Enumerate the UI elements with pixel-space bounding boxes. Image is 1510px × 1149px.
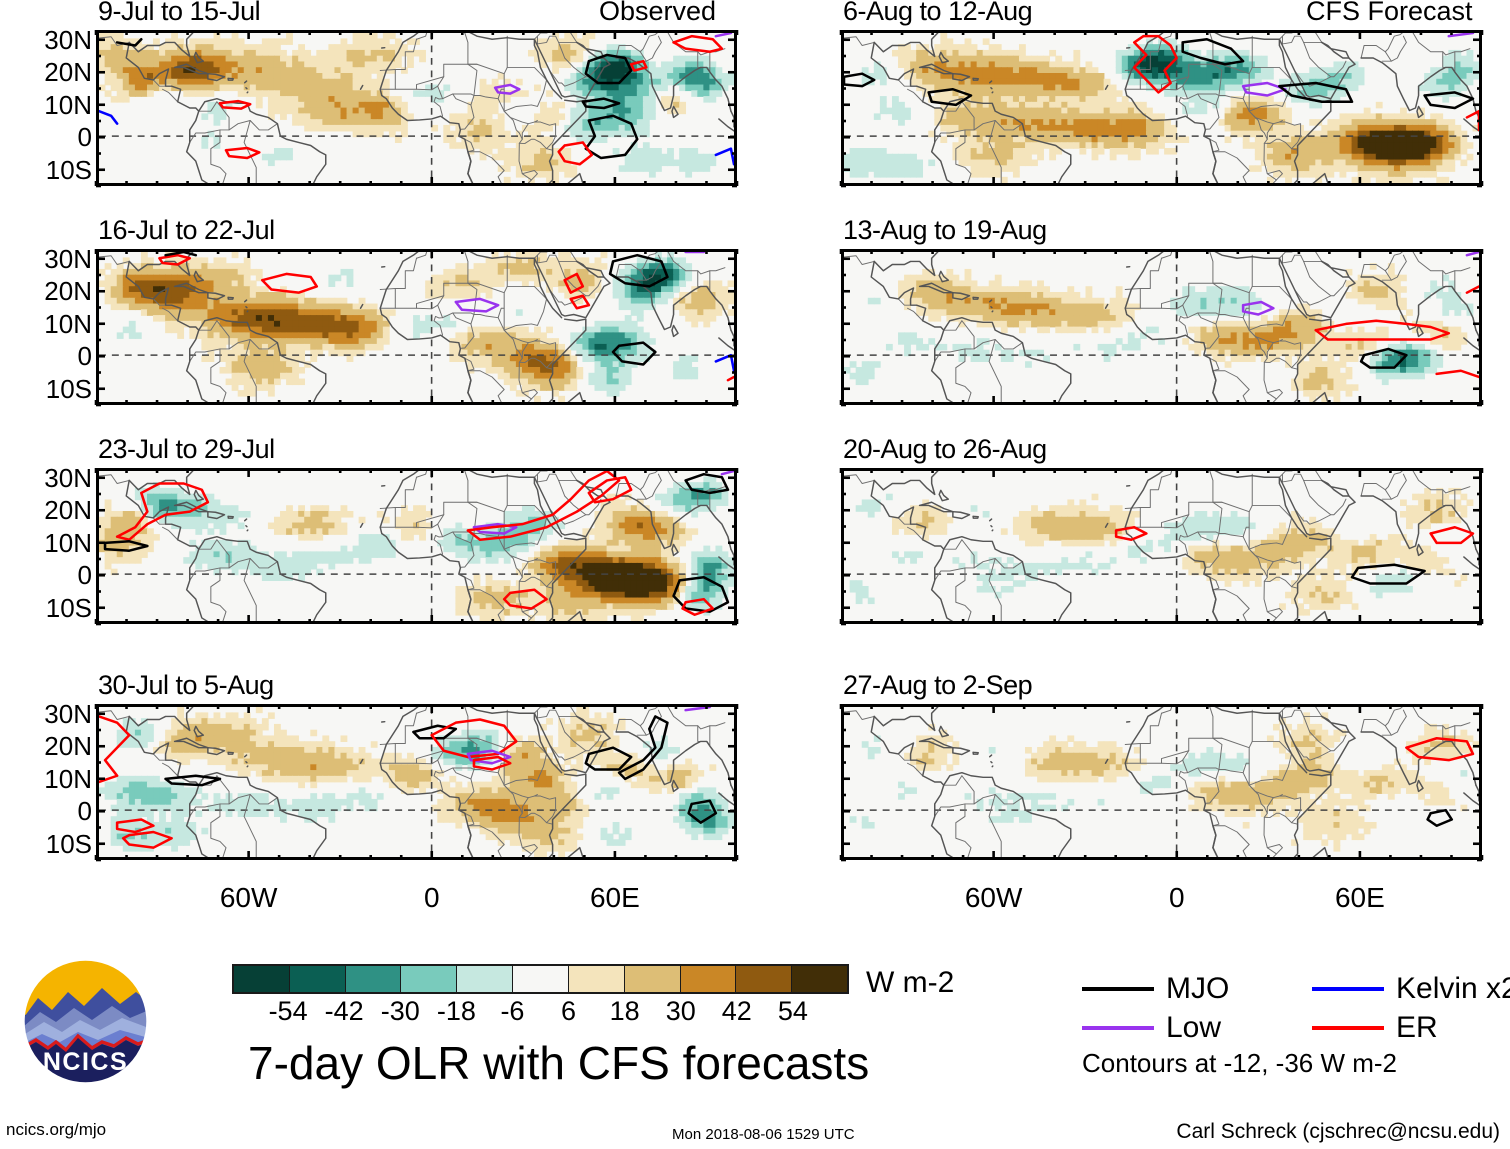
colorbar-bin-6 (569, 966, 625, 992)
colorbar: -54-42-30-18-6618304254 (232, 964, 849, 1028)
colorbar-bin-9 (736, 966, 792, 992)
y-tick-label: 10S (46, 831, 92, 857)
colorbar-bin-2 (346, 966, 402, 992)
legend-line-er (1312, 1026, 1384, 1030)
legend-label-er: ER (1396, 1011, 1438, 1045)
colorbar-bin-7 (625, 966, 681, 992)
y-tick-label: 20N (44, 278, 92, 304)
legend-label-low: Low (1166, 1011, 1221, 1045)
map-obs-2 (96, 249, 737, 405)
legend-label-kelvin: Kelvin x2 (1396, 972, 1510, 1006)
colorbar-bin-8 (681, 966, 737, 992)
x-tick-label: 0 (424, 882, 440, 914)
panel-title-obs-1: 9-Jul to 15-Jul (98, 0, 260, 27)
map-fcst-1 (841, 30, 1482, 186)
colorbar-bin-10 (792, 966, 847, 992)
x-tick-label: 60W (220, 882, 278, 914)
y-tick-label: 10N (44, 766, 92, 792)
map-obs-4 (96, 704, 737, 860)
ncics-logo: NCICS (22, 958, 149, 1085)
colorbar-tick-9: 54 (778, 996, 808, 1027)
colorbar-units-label: W m-2 (866, 966, 954, 1000)
x-tick-label: 60E (1335, 882, 1385, 914)
author-credit: Carl Schreck (cjschrec@ncsu.edu) (1176, 1120, 1500, 1144)
column-header-observed: Observed (599, 0, 716, 27)
panel-title-fcst-4: 27-Aug to 2-Sep (843, 670, 1032, 701)
colorbar-tick-2: -30 (381, 996, 420, 1027)
y-tick-label: 10S (46, 157, 92, 183)
y-tick-label: 0 (78, 562, 92, 588)
legend-entry-er: ER (1312, 1011, 1438, 1045)
y-tick-label: 10N (44, 530, 92, 556)
contour-legend: MJO Kelvin x2 Low ER (1082, 972, 1502, 1050)
y-tick-label: 10S (46, 595, 92, 621)
y-axis-labels-row-2: 30N20N10N010S (4, 468, 92, 624)
y-axis-labels-row-0: 30N20N10N010S (4, 30, 92, 186)
colorbar-tick-labels: -54-42-30-18-6618304254 (232, 994, 849, 1028)
figure-title: 7-day OLR with CFS forecasts (248, 1036, 869, 1090)
panel-title-fcst-3: 20-Aug to 26-Aug (843, 434, 1047, 465)
legend-entry-mjo: MJO (1082, 972, 1229, 1006)
y-tick-label: 30N (44, 465, 92, 491)
legend-line-kelvin (1312, 987, 1384, 991)
colorbar-bin-4 (457, 966, 513, 992)
map-fcst-2 (841, 249, 1482, 405)
y-tick-label: 30N (44, 246, 92, 272)
contour-levels-note: Contours at -12, -36 W m-2 (1082, 1048, 1397, 1079)
panel-title-obs-2: 16-Jul to 22-Jul (98, 215, 275, 246)
colorbar-tick-1: -42 (325, 996, 364, 1027)
map-fcst-4 (841, 704, 1482, 860)
colorbar-tick-7: 30 (666, 996, 696, 1027)
map-obs-1 (96, 30, 737, 186)
logo-url-text: ncics.org/mjo (6, 1120, 106, 1140)
colorbar-bin-1 (290, 966, 346, 992)
y-tick-label: 20N (44, 733, 92, 759)
x-tick-label: 60E (590, 882, 640, 914)
colorbar-tick-4: -6 (500, 996, 524, 1027)
y-tick-label: 20N (44, 497, 92, 523)
y-axis-labels-row-1: 30N20N10N010S (4, 249, 92, 405)
legend-line-low (1082, 1026, 1154, 1030)
y-tick-label: 30N (44, 27, 92, 53)
legend-row-1: MJO Kelvin x2 (1082, 972, 1502, 1011)
y-tick-label: 20N (44, 59, 92, 85)
map-fcst-3 (841, 468, 1482, 624)
legend-entry-kelvin: Kelvin x2 (1312, 972, 1510, 1006)
legend-line-mjo (1082, 987, 1154, 991)
panel-title-fcst-1: 6-Aug to 12-Aug (843, 0, 1032, 27)
y-tick-label: 30N (44, 701, 92, 727)
colorbar-tick-3: -18 (437, 996, 476, 1027)
x-tick-label: 0 (1169, 882, 1185, 914)
map-obs-3 (96, 468, 737, 624)
panel-title-obs-3: 23-Jul to 29-Jul (98, 434, 275, 465)
colorbar-bin-5 (513, 966, 569, 992)
column-header-forecast: CFS Forecast (1306, 0, 1473, 27)
y-tick-label: 10N (44, 311, 92, 337)
y-tick-label: 0 (78, 798, 92, 824)
legend-label-mjo: MJO (1166, 972, 1229, 1006)
colorbar-tick-6: 18 (610, 996, 640, 1027)
y-tick-label: 0 (78, 343, 92, 369)
colorbar-bin-3 (401, 966, 457, 992)
colorbar-tick-8: 42 (722, 996, 752, 1027)
colorbar-bin-0 (234, 966, 290, 992)
panel-title-obs-4: 30-Jul to 5-Aug (98, 670, 274, 701)
colorbar-tick-5: 6 (561, 996, 576, 1027)
colorbar-tick-0: -54 (269, 996, 308, 1027)
legend-row-2: Low ER (1082, 1011, 1502, 1050)
y-tick-label: 10S (46, 376, 92, 402)
y-tick-label: 0 (78, 124, 92, 150)
panel-title-fcst-2: 13-Aug to 19-Aug (843, 215, 1047, 246)
figure-root: 9-Jul to 15-JulObserved30N20N10N010S16-J… (0, 0, 1510, 1149)
render-timestamp: Mon 2018-08-06 1529 UTC (672, 1126, 855, 1143)
legend-entry-low: Low (1082, 1011, 1221, 1045)
colorbar-swatches (232, 964, 849, 994)
y-axis-labels-row-3: 30N20N10N010S (4, 704, 92, 860)
x-tick-label: 60W (965, 882, 1023, 914)
y-tick-label: 10N (44, 92, 92, 118)
